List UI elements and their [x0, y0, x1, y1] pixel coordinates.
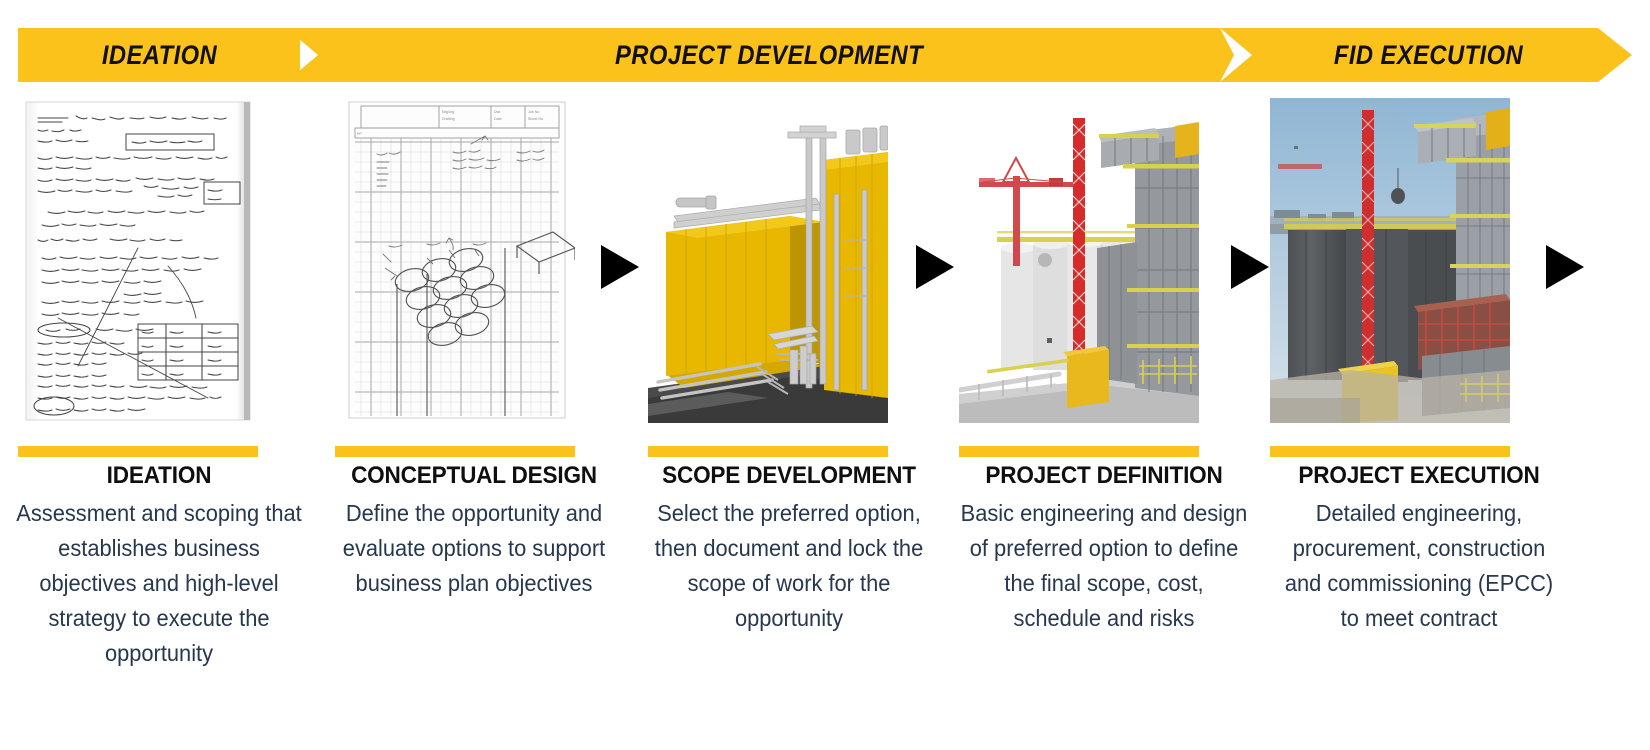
phase-segment-ideation[interactable]: IDEATION	[18, 28, 300, 82]
svg-text:PP.: PP.	[357, 132, 362, 136]
stage-accent-bar	[959, 446, 1199, 457]
right-triangle-arrow-icon	[1546, 245, 1584, 289]
stage-accent-bar	[648, 446, 888, 457]
svg-text:Sheet No: Sheet No	[528, 117, 543, 121]
stage-description: Select the preferred option, then docume…	[644, 496, 935, 636]
phase-label: PROJECT DEVELOPMENT	[615, 40, 923, 71]
stage-thumbnail-detailed-3d-plant	[959, 98, 1199, 423]
phase-banner: IDEATION PROJECT DEVELOPMENT FID EXECUTI…	[18, 28, 1632, 82]
stage-title: IDEATION	[10, 462, 309, 490]
svg-text:Job No: Job No	[528, 110, 539, 114]
svg-text:Mtg/org: Mtg/org	[442, 110, 454, 114]
right-triangle-arrow-icon	[1231, 245, 1269, 289]
stage-thumbnail-construction-photo	[1270, 98, 1510, 423]
stage-accent-bar	[1270, 446, 1510, 457]
stage-description: Assessment and scoping that establishes …	[14, 496, 305, 671]
stage-accent-bar	[18, 446, 258, 457]
phase-segment-project-development[interactable]: PROJECT DEVELOPMENT	[286, 28, 1234, 82]
stage-description: Define the opportunity and evaluate opti…	[329, 496, 620, 601]
phase-label: IDEATION	[101, 40, 216, 71]
stage-title: PROJECT EXECUTION	[1270, 462, 1569, 490]
stage-thumbnail-hand-sketch: Mtg/orgDrafting DwtDate Job NoSheet No P…	[335, 98, 575, 423]
svg-text:Date: Date	[494, 117, 502, 121]
stage-columns: IDEATION Assessment and scoping that est…	[0, 98, 1650, 738]
stage-description: Detailed engineering, procurement, const…	[1274, 496, 1565, 636]
stage-thumbnail-block-3d-model	[648, 98, 888, 423]
stage-thumbnail-handwritten-notes	[18, 98, 258, 423]
stage-description: Basic engineering and design of preferre…	[959, 496, 1250, 636]
stage-title: PROJECT DEFINITION	[955, 462, 1254, 490]
phase-segment-fid-execution[interactable]: FID EXECUTION	[1220, 28, 1632, 82]
right-triangle-arrow-icon	[601, 245, 639, 289]
stage-accent-bar	[335, 446, 575, 457]
svg-text:Drafting: Drafting	[442, 117, 455, 121]
svg-text:Dwt: Dwt	[494, 110, 500, 114]
phase-label: FID EXECUTION	[1334, 40, 1523, 71]
stage-title: SCOPE DEVELOPMENT	[640, 462, 939, 490]
right-triangle-arrow-icon	[916, 245, 954, 289]
stage-title: CONCEPTUAL DESIGN	[325, 462, 624, 490]
